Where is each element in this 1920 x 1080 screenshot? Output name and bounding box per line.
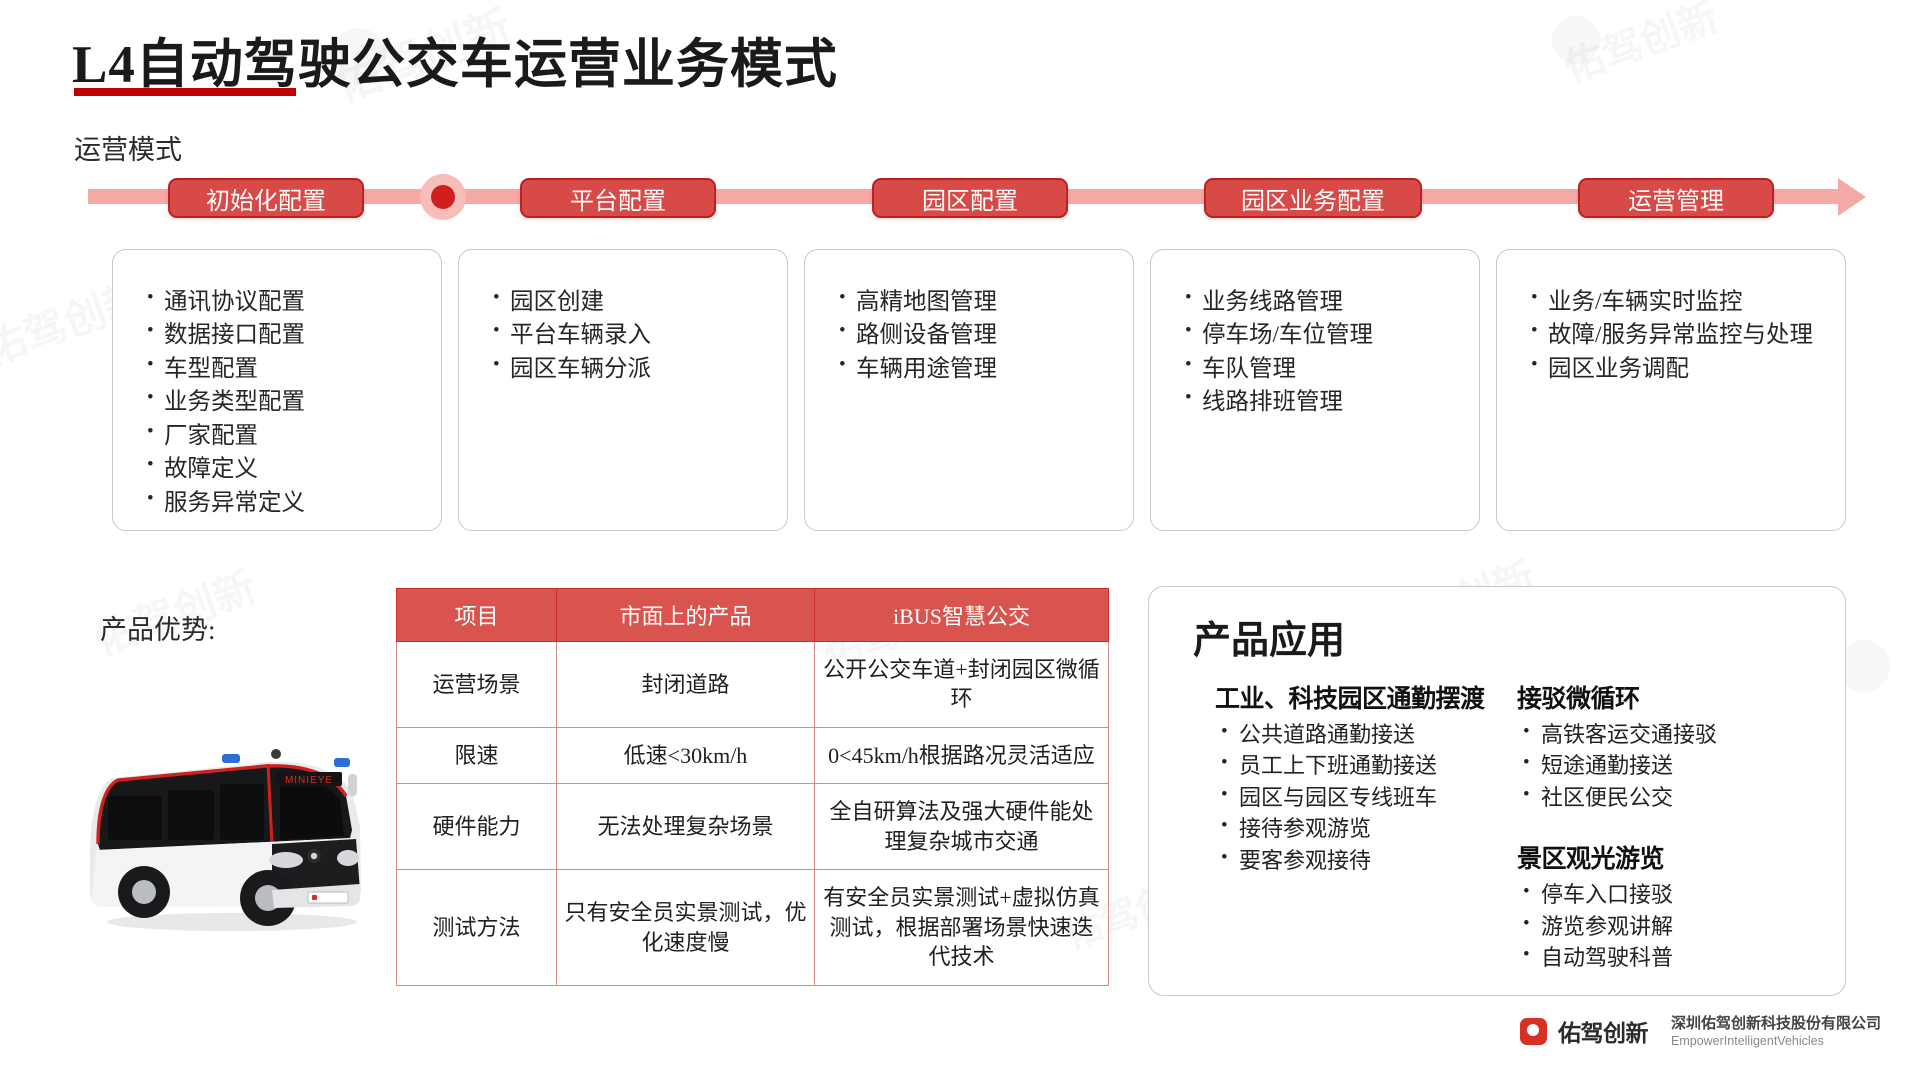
footer-divider (1659, 1016, 1660, 1046)
watermark-text: 佑驾创新 (1555, 0, 1725, 94)
list-item: 接待参观游览 (1215, 813, 1515, 844)
list-item: 停车入口接驳 (1517, 879, 1817, 910)
table-row: 测试方法只有安全员实景测试，优化速度慢有安全员实景测试+虚拟仿真测试，根据部署场… (397, 870, 1109, 985)
list-item: 高铁客运交通接驳 (1517, 719, 1817, 750)
feature-card-list: 业务/车辆实时监控故障/服务异常监控与处理园区业务调配 (1497, 250, 1845, 385)
table-row: 硬件能力无法处理复杂场景全自研算法及强大硬件能处理复杂城市交通 (397, 784, 1109, 870)
feature-card-5: 业务/车辆实时监控故障/服务异常监控与处理园区业务调配 (1496, 249, 1846, 531)
timeline-step-label: 园区业务配置 (1241, 181, 1385, 216)
timeline-step-4[interactable]: 园区业务配置 (1204, 178, 1422, 218)
timeline-step-label: 园区配置 (922, 181, 1018, 216)
table-header-cell: 项目 (397, 589, 557, 642)
list-item: 故障/服务异常监控与处理 (1531, 319, 1845, 351)
watermark-dot (1552, 16, 1600, 64)
table-cell: 无法处理复杂场景 (557, 784, 815, 870)
feature-card-list: 业务线路管理停车场/车位管理车队管理线路排班管理 (1151, 250, 1479, 419)
logo-wordmark: 佑驾创新 (1558, 1014, 1648, 1048)
table-header-row: 项目 市面上的产品 iBUS智慧公交 (397, 589, 1109, 642)
timeline-marker-dot (431, 185, 455, 209)
list-item: 要客参观接待 (1215, 845, 1515, 876)
table-cell: 有安全员实景测试+虚拟仿真测试，根据部署场景快速迭代技术 (815, 870, 1109, 985)
table-row: 限速低速<30km/h0<45km/h根据路况灵活适应 (397, 727, 1109, 783)
timeline-step-1[interactable]: 初始化配置 (168, 178, 364, 218)
list-item: 园区业务调配 (1531, 353, 1845, 385)
list-item: 厂家配置 (147, 420, 441, 452)
list-item: 路侧设备管理 (839, 319, 1133, 351)
footer-branding: 佑驾创新 深圳佑驾创新科技股份有限公司 EmpowerIntelligentVe… (1520, 1014, 1881, 1048)
applications-column-left: 工业、科技园区通勤摆渡公共道路通勤接送员工上下班通勤接送园区与园区专线班车接待参… (1215, 679, 1515, 902)
table-cell: 封闭道路 (557, 642, 815, 728)
list-item: 员工上下班通勤接送 (1215, 750, 1515, 781)
application-group-list: 停车入口接驳游览参观讲解自动驾驶科普 (1517, 879, 1817, 973)
list-item: 自动驾驶科普 (1517, 942, 1817, 973)
list-item: 服务异常定义 (147, 487, 441, 519)
title-underline (74, 88, 296, 96)
table-cell: 运营场景 (397, 642, 557, 728)
company-slogan: EmpowerIntelligentVehicles (1671, 1034, 1881, 1048)
feature-card-4: 业务线路管理停车场/车位管理车队管理线路排班管理 (1150, 249, 1480, 531)
feature-card-list: 高精地图管理路侧设备管理车辆用途管理 (805, 250, 1133, 385)
list-item: 短途通勤接送 (1517, 750, 1817, 781)
table-header-cell: 市面上的产品 (557, 589, 815, 642)
applications-panel: 产品应用 工业、科技园区通勤摆渡公共道路通勤接送员工上下班通勤接送园区与园区专线… (1148, 586, 1846, 996)
company-name: 深圳佑驾创新科技股份有限公司 (1671, 1014, 1881, 1034)
bus-photo: MINIEYE (72, 740, 382, 935)
timeline-arrow-icon (1838, 178, 1866, 216)
list-item: 业务/车辆实时监控 (1531, 286, 1845, 318)
application-group-heading: 接驳微循环 (1517, 679, 1817, 715)
comparison-table: 项目 市面上的产品 iBUS智慧公交 运营场景封闭道路公开公交车道+封闭园区微循… (396, 588, 1109, 986)
timeline-step-5[interactable]: 运营管理 (1578, 178, 1774, 218)
table-cell: 测试方法 (397, 870, 557, 985)
feature-card-list: 园区创建平台车辆录入园区车辆分派 (459, 250, 787, 385)
table-cell: 低速<30km/h (557, 727, 815, 783)
list-item: 车队管理 (1185, 353, 1479, 385)
timeline-step-label: 初始化配置 (206, 181, 326, 216)
application-group-list: 高铁客运交通接驳短途通勤接送社区便民公交 (1517, 719, 1817, 813)
section-subtitle: 运营模式 (74, 128, 182, 167)
application-group-heading: 景区观光游览 (1517, 839, 1817, 875)
list-item: 园区创建 (493, 286, 787, 318)
list-item: 游览参观讲解 (1517, 911, 1817, 942)
timeline-step-label: 平台配置 (570, 181, 666, 216)
feature-card-list: 通讯协议配置数据接口配置车型配置业务类型配置厂家配置故障定义服务异常定义 (113, 250, 441, 519)
list-item: 通讯协议配置 (147, 286, 441, 318)
applications-title: 产品应用 (1193, 609, 1345, 664)
list-item: 平台车辆录入 (493, 319, 787, 351)
product-advantage-label: 产品优势: (100, 608, 216, 647)
list-item: 业务类型配置 (147, 386, 441, 418)
slide-root: 佑驾创新 佑驾创新 佑驾创新 佑驾创新 佑驾创新 佑驾创新 佑驾创新 L4自动驾… (0, 0, 1920, 1080)
list-item: 车辆用途管理 (839, 353, 1133, 385)
feature-card-1: 通讯协议配置数据接口配置车型配置业务类型配置厂家配置故障定义服务异常定义 (112, 249, 442, 531)
table-cell: 硬件能力 (397, 784, 557, 870)
list-item: 高精地图管理 (839, 286, 1133, 318)
application-group-list: 公共道路通勤接送员工上下班通勤接送园区与园区专线班车接待参观游览要客参观接待 (1215, 719, 1515, 876)
table-cell: 0<45km/h根据路况灵活适应 (815, 727, 1109, 783)
timeline-step-3[interactable]: 园区配置 (872, 178, 1068, 218)
list-item: 园区与园区专线班车 (1215, 782, 1515, 813)
timeline-step-label: 运营管理 (1628, 181, 1724, 216)
list-item: 停车场/车位管理 (1185, 319, 1479, 351)
list-item: 数据接口配置 (147, 319, 441, 351)
list-item: 线路排班管理 (1185, 386, 1479, 418)
table-cell: 公开公交车道+封闭园区微循环 (815, 642, 1109, 728)
table-cell: 限速 (397, 727, 557, 783)
table-cell: 全自研算法及强大硬件能处理复杂城市交通 (815, 784, 1109, 870)
list-item: 车型配置 (147, 353, 441, 385)
list-item: 故障定义 (147, 453, 441, 485)
list-item: 业务线路管理 (1185, 286, 1479, 318)
company-logo-icon (1520, 1018, 1547, 1045)
application-group-heading: 工业、科技园区通勤摆渡 (1215, 679, 1515, 715)
feature-card-3: 高精地图管理路侧设备管理车辆用途管理 (804, 249, 1134, 531)
list-item: 公共道路通勤接送 (1215, 719, 1515, 750)
feature-card-2: 园区创建平台车辆录入园区车辆分派 (458, 249, 788, 531)
timeline-step-2[interactable]: 平台配置 (520, 178, 716, 218)
table-row: 运营场景封闭道路公开公交车道+封闭园区微循环 (397, 642, 1109, 728)
table-cell: 只有安全员实景测试，优化速度慢 (557, 870, 815, 985)
applications-column-right: 接驳微循环高铁客运交通接驳短途通勤接送社区便民公交景区观光游览停车入口接驳游览参… (1517, 679, 1817, 1000)
table-header-cell: iBUS智慧公交 (815, 589, 1109, 642)
list-item: 园区车辆分派 (493, 353, 787, 385)
svg-text:MINIEYE: MINIEYE (285, 775, 333, 786)
list-item: 社区便民公交 (1517, 782, 1817, 813)
page-title: L4自动驾驶公交车运营业务模式 (72, 22, 838, 98)
